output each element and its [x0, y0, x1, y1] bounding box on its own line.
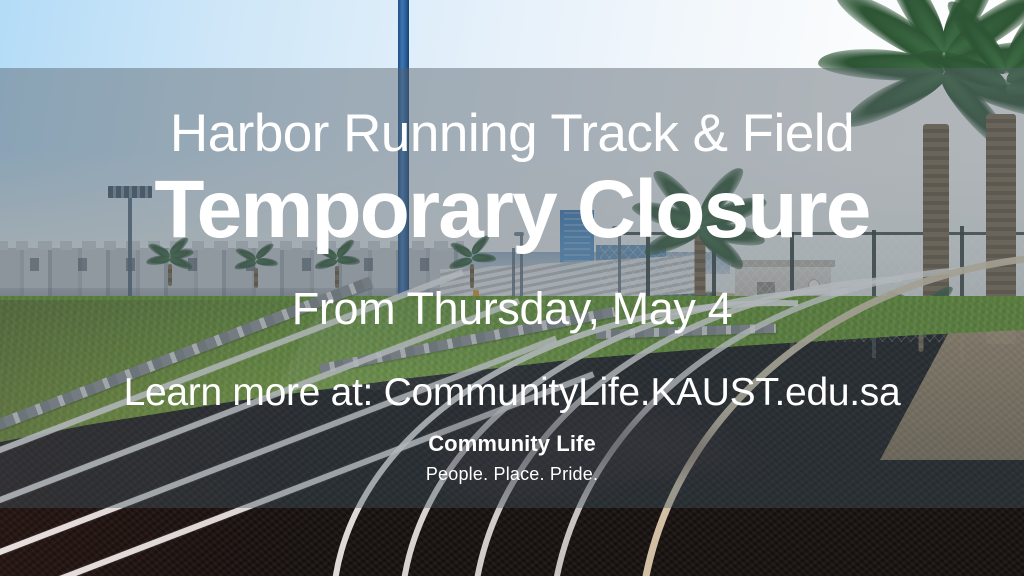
- brand-name: Community Life: [0, 431, 1024, 457]
- learn-more-url[interactable]: Learn more at: CommunityLife.KAUST.edu.s…: [0, 371, 1024, 415]
- poster-canvas: Harbor Running Track & Field Temporary C…: [0, 0, 1024, 576]
- poster-text-layer: Harbor Running Track & Field Temporary C…: [0, 0, 1024, 576]
- poster-hero-title: Temporary Closure: [0, 168, 1024, 252]
- poster-date-line: From Thursday, May 4: [0, 283, 1024, 335]
- brand-tagline: People. Place. Pride.: [0, 464, 1024, 485]
- poster-headline: Harbor Running Track & Field: [0, 106, 1024, 162]
